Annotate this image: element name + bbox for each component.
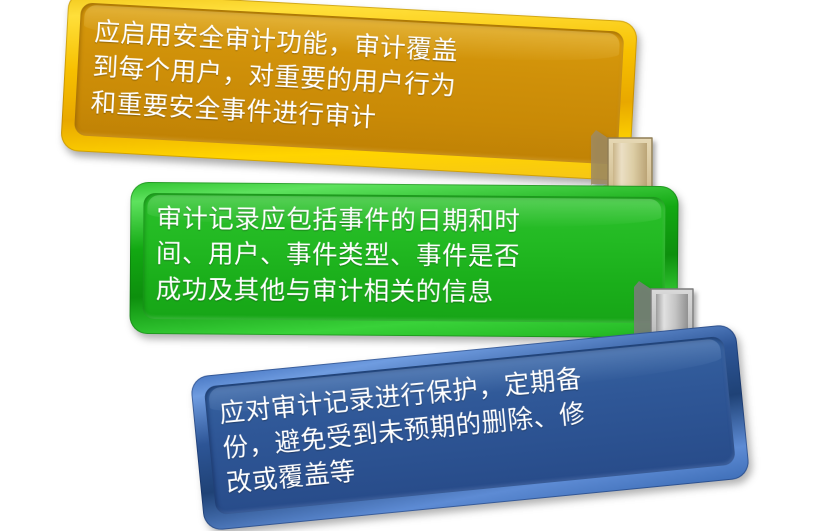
box-text-area: 审计记录应包括事件的日期和时 间、用户、事件类型、事件是否 成功及其他与审计相关… bbox=[129, 182, 678, 338]
slide-canvas: 应启用安全审计功能，审计覆盖 到每个用户，对重要的用户行为 和重要安全事件进行审… bbox=[0, 0, 816, 524]
callout-box-green[interactable]: 审计记录应包括事件的日期和时 间、用户、事件类型、事件是否 成功及其他与审计相关… bbox=[129, 182, 678, 338]
box-text-area: 应对审计记录进行保护，定期备 份，避免受到未预期的删除、修 改或覆盖等 bbox=[190, 324, 751, 531]
callout-text-blue: 应对审计记录进行保护，定期备 份，避免受到未预期的删除、修 改或覆盖等 bbox=[218, 362, 591, 503]
callout-box-orange[interactable]: 应启用安全审计功能，审计覆盖 到每个用户，对重要的用户行为 和重要安全事件进行审… bbox=[60, 0, 638, 181]
callout-text-orange: 应启用安全审计功能，审计覆盖 到每个用户，对重要的用户行为 和重要安全事件进行审… bbox=[90, 15, 459, 140]
callout-text-green: 审计记录应包括事件的日期和时 间、用户、事件类型、事件是否 成功及其他与审计相关… bbox=[156, 202, 521, 310]
box-text-area: 应启用安全审计功能，审计覆盖 到每个用户，对重要的用户行为 和重要安全事件进行审… bbox=[60, 0, 638, 181]
callout-box-blue[interactable]: 应对审计记录进行保护，定期备 份，避免受到未预期的删除、修 改或覆盖等 bbox=[190, 324, 751, 531]
